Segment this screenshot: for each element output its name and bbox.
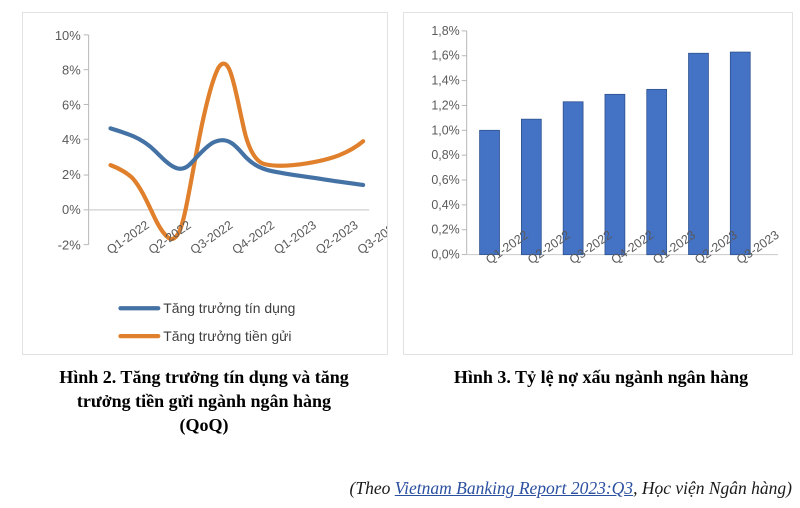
series-line-deposit-growth: [111, 64, 364, 239]
x-tick-label: Q4-2022: [230, 218, 278, 257]
y-tick-label: -2%: [58, 238, 81, 253]
y-tick-label: 4%: [62, 132, 81, 147]
bar: [689, 53, 709, 254]
y-tick-label: 0,2%: [431, 223, 459, 237]
y-tick-label: 1,8%: [431, 24, 459, 38]
figure-2-chart-panel: 10% 8% 6% 4% 2% 0% -2% Q1-2022 Q2-2022 Q…: [22, 12, 388, 355]
y-tick-label: 0%: [62, 202, 81, 217]
credit-deposit-growth-chart: 10% 8% 6% 4% 2% 0% -2% Q1-2022 Q2-2022 Q…: [23, 13, 387, 354]
x-tick-label: Q2-2022: [146, 218, 194, 257]
source-prefix: (Theo: [350, 478, 395, 498]
source-attribution: (Theo Vietnam Banking Report 2023:Q3, Họ…: [0, 478, 792, 499]
y-tick-label: 1,2%: [431, 98, 459, 112]
y-tick-label: 10%: [55, 28, 81, 43]
y-tick-label: 2%: [62, 167, 81, 182]
y-tick-label: 1,6%: [431, 49, 459, 63]
y-tick-label: 0,0%: [431, 248, 459, 262]
x-tick-label: Q3-2023: [355, 218, 387, 257]
series-line-credit-growth: [111, 128, 364, 185]
npl-ratio-chart: 1,8% 1,6% 1,4% 1,2% 1,0% 0,8% 0,6% 0,4% …: [404, 13, 792, 354]
figure-3-caption: Hình 3. Tỷ lệ nợ xấu ngành ngân hàng: [406, 366, 796, 390]
figure-2-caption-line: trưởng tiền gửi ngành ngân hàng: [8, 390, 400, 414]
y-axis-group: 10% 8% 6% 4% 2% 0% -2%: [55, 28, 89, 253]
y-axis-group: 1,8% 1,6% 1,4% 1,2% 1,0% 0,8% 0,6% 0,4% …: [431, 24, 466, 262]
y-tick-label: 0,4%: [431, 198, 459, 212]
x-tick-label: Q1-2023: [271, 218, 319, 257]
y-tick-label: 0,8%: [431, 148, 459, 162]
x-tick-label: Q3-2022: [188, 218, 236, 257]
y-tick-label: 1,0%: [431, 123, 459, 137]
x-tick-label: Q2-2023: [313, 218, 361, 257]
x-tick-label: Q1-2022: [104, 218, 152, 257]
bar-series-npl-ratio: [480, 52, 751, 255]
legend-label-credit-growth: Tăng trưởng tín dụng: [163, 300, 295, 316]
y-tick-label: 1,4%: [431, 74, 459, 88]
figure-2-caption-line: (QoQ): [8, 414, 400, 438]
bar: [730, 52, 750, 255]
source-suffix: , Học viện Ngân hàng): [633, 478, 792, 498]
legend-label-deposit-growth: Tăng trưởng tiền gửi: [163, 328, 291, 344]
source-report-link[interactable]: Vietnam Banking Report 2023:Q3: [395, 478, 633, 498]
y-tick-label: 8%: [62, 63, 81, 78]
bar: [480, 130, 500, 254]
y-tick-label: 0,6%: [431, 173, 459, 187]
y-tick-label: 6%: [62, 97, 81, 112]
figure-3-chart-panel: 1,8% 1,6% 1,4% 1,2% 1,0% 0,8% 0,6% 0,4% …: [403, 12, 793, 355]
chart-legend: Tăng trưởng tín dụng Tăng trưởng tiền gử…: [120, 300, 295, 344]
figure-2-caption-line: Hình 2. Tăng trưởng tín dụng và tăng: [8, 366, 400, 390]
bar: [647, 89, 667, 254]
x-axis-category-labels: Q1-2022 Q2-2022 Q3-2022 Q4-2022 Q1-2023 …: [104, 218, 387, 257]
figure-3-caption-line: Hình 3. Tỷ lệ nợ xấu ngành ngân hàng: [406, 366, 796, 390]
figure-2-caption: Hình 2. Tăng trưởng tín dụng và tăng trư…: [8, 366, 400, 437]
